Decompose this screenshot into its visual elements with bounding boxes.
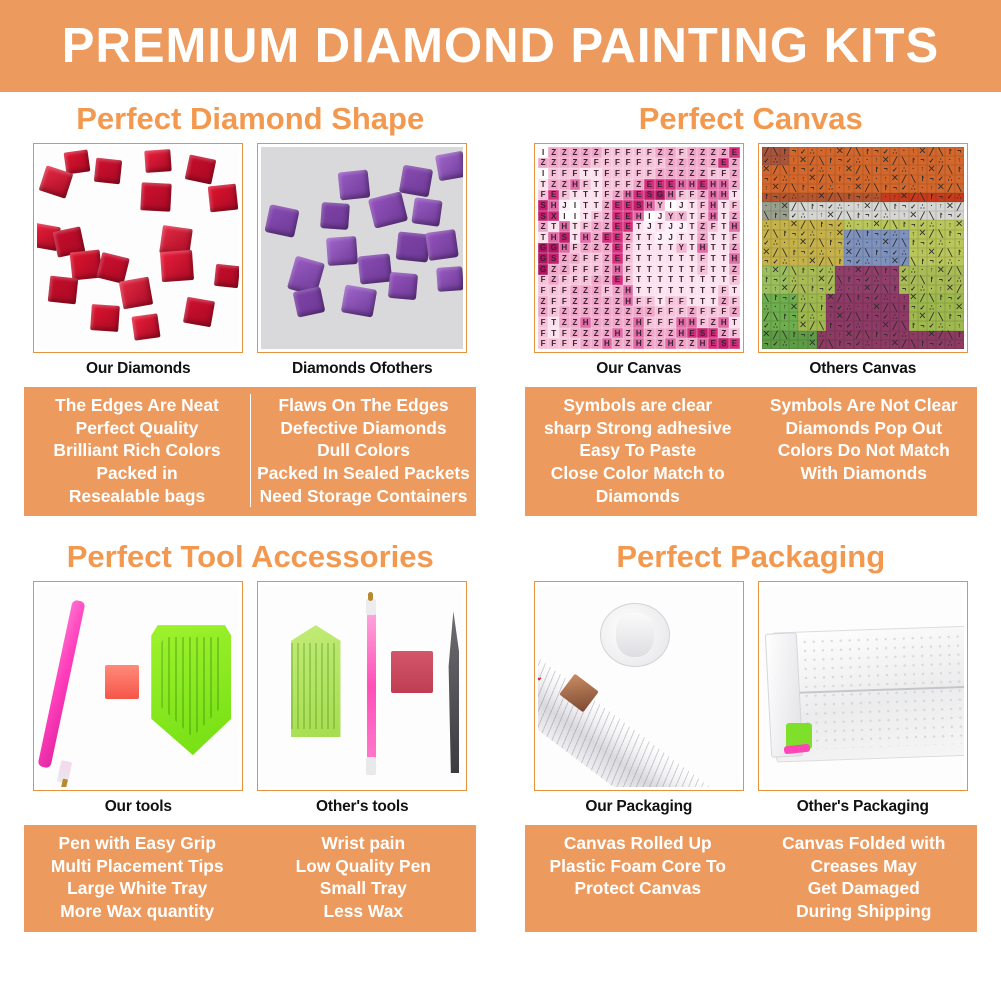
canvas-symbol-cell: H	[570, 179, 581, 190]
canvas-symbol-cell: ╱	[808, 321, 817, 330]
canvas-symbol-cell: ∴	[826, 184, 835, 193]
canvas-symbol-cell: ∴	[872, 193, 881, 202]
canvas-symbol-cell: Z	[687, 306, 698, 317]
canvas-symbol-cell: ·	[909, 248, 918, 257]
page-title: PREMIUM DIAMOND PAINTING KITS	[62, 18, 939, 74]
canvas-symbol-cell: ↾	[817, 220, 826, 229]
canvas-symbol-cell: X	[548, 211, 559, 222]
canvas-symbol-cell: ·	[808, 294, 817, 303]
canvas-symbol-cell: T	[655, 296, 666, 307]
canvas-symbol-cell: F	[623, 264, 634, 275]
canvas-symbol-cell: ↾	[955, 165, 964, 174]
canvas-symbol-cell: Z	[665, 328, 676, 339]
canvas-symbol-cell: ⨉	[918, 312, 927, 321]
canvas-symbol-cell: ¬	[955, 230, 964, 239]
canvas-symbol-cell: ∴	[945, 257, 954, 266]
canvas-symbol-cell: T	[676, 285, 687, 296]
other-packaging-photo	[758, 581, 968, 791]
canvas-symbol-cell: T	[718, 211, 729, 222]
canvas-symbol-cell: ╱	[808, 156, 817, 165]
canvas-symbol-cell: ↑	[955, 321, 964, 330]
canvas-symbol-cell: ↾	[936, 294, 945, 303]
canvas-symbol-cell: ¬	[909, 303, 918, 312]
canvas-symbol-cell: ↑	[835, 331, 844, 340]
canvas-symbol-cell: ∴	[835, 202, 844, 211]
canvas-symbol-cell: E	[687, 328, 698, 339]
canvas-symbol-cell: ·	[945, 156, 954, 165]
canvas-symbol-cell: I	[570, 211, 581, 222]
canvas-symbol-cell: ↑	[890, 276, 899, 285]
canvas-symbol-cell: ╱	[854, 248, 863, 257]
canvas-symbol-cell: ↑	[945, 220, 954, 229]
canvas-symbol-cell: ¬	[826, 303, 835, 312]
canvas-symbol-cell: Z	[602, 264, 613, 275]
canvas-symbol-cell: ∴	[854, 321, 863, 330]
canvas-symbol-cell: ╱	[771, 165, 780, 174]
canvas-symbol-cell: ✓	[844, 156, 853, 165]
canvas-symbol-cell: ·	[899, 147, 908, 156]
canvas-symbol-cell: F	[718, 306, 729, 317]
canvas-symbol-cell: ¬	[927, 257, 936, 266]
canvas-symbol-cell: ¬	[798, 165, 807, 174]
canvas-symbol-cell: Z	[644, 338, 655, 349]
canvas-symbol-cell: ╱	[798, 303, 807, 312]
canvas-symbol-cell: ╲	[927, 294, 936, 303]
canvas-symbol-cell: ✓	[918, 220, 927, 229]
canvas-symbol-cell: T	[687, 243, 698, 254]
canvas-symbol-cell: ·	[909, 165, 918, 174]
canvas-symbol-cell: ╱	[863, 184, 872, 193]
canvas-symbol-cell: ↑	[927, 266, 936, 275]
canvas-symbol-cell: Z	[676, 338, 687, 349]
canvas-symbol-cell: Z	[570, 328, 581, 339]
canvas-symbol-cell: ✓	[955, 211, 964, 220]
canvas-symbol-cell: T	[687, 211, 698, 222]
canvas-symbol-cell: ¬	[798, 331, 807, 340]
canvas-symbol-cell: ╲	[789, 184, 798, 193]
canvas-symbol-cell: F	[538, 190, 549, 201]
canvas-symbol-cell: T	[570, 190, 581, 201]
canvas-symbol-cell: T	[718, 243, 729, 254]
canvas-symbol-cell: ¬	[899, 202, 908, 211]
canvas-symbol-cell: ↑	[817, 294, 826, 303]
canvas-symbol-cell: ·	[817, 230, 826, 239]
canvas-symbol-cell: ↾	[780, 312, 789, 321]
canvas-symbol-cell: ∴	[762, 220, 771, 229]
canvas-symbol-cell: E	[633, 190, 644, 201]
canvas-symbol-cell: H	[708, 200, 719, 211]
canvas-symbol-cell: ⨉	[771, 184, 780, 193]
canvas-symbol-cell: ·	[771, 303, 780, 312]
canvas-symbol-cell: ¬	[789, 230, 798, 239]
diamond-drill	[214, 264, 239, 288]
canvas-symbol-cell: ↾	[909, 321, 918, 330]
canvas-symbol-cell: ✓	[890, 331, 899, 340]
canvas-symbol-cell: ·	[808, 211, 817, 220]
canvas-symbol-cell: Z	[559, 317, 570, 328]
canvas-symbol-cell: ↾	[835, 175, 844, 184]
canvas-symbol-cell: ↑	[789, 321, 798, 330]
canvas-symbol-cell: ¬	[826, 220, 835, 229]
canvas-symbol-cell: ↾	[909, 156, 918, 165]
canvas-symbol-cell: ✓	[872, 211, 881, 220]
canvas-symbol-cell: ╱	[835, 294, 844, 303]
feature-line: sharp Strong adhesive	[529, 417, 747, 440]
canvas-symbol-cell: H	[676, 179, 687, 190]
feature-line: Low Quality Pen	[254, 855, 472, 878]
canvas-symbol-cell: ·	[771, 220, 780, 229]
canvas-symbol-cell: G	[655, 190, 666, 201]
canvas-symbol-cell: ⨉	[872, 303, 881, 312]
diamond-drill	[185, 154, 217, 184]
canvas-symbol-cell: T	[591, 190, 602, 201]
canvas-symbol-cell: F	[548, 168, 559, 179]
canvas-symbol-cell: Z	[580, 243, 591, 254]
canvas-symbol-cell: ↑	[909, 230, 918, 239]
canvas-symbol-cell: ✓	[771, 257, 780, 266]
canvas-symbol-cell: Z	[687, 168, 698, 179]
canvas-symbol-cell: I	[644, 211, 655, 222]
canvas-symbol-cell: ✓	[854, 175, 863, 184]
feature-line: Brilliant Rich Colors	[28, 439, 246, 462]
canvas-symbol-cell: ╲	[890, 303, 899, 312]
canvas-symbol-cell: T	[708, 275, 719, 286]
canvas-symbol-cell: E	[623, 211, 634, 222]
canvas-symbol-cell: T	[708, 296, 719, 307]
canvas-symbol-cell: ↑	[881, 257, 890, 266]
canvas-symbol-cell: ✓	[780, 193, 789, 202]
canvas-symbol-cell: T	[580, 211, 591, 222]
canvas-symbol-cell: Z	[612, 190, 623, 201]
canvas-symbol-cell: Z	[570, 253, 581, 264]
canvas-symbol-cell: T	[570, 221, 581, 232]
canvas-symbol-cell: ╱	[899, 257, 908, 266]
canvas-symbol-cell: ↑	[798, 257, 807, 266]
canvas-symbol-cell: T	[687, 232, 698, 243]
canvas-symbol-cell: ✓	[854, 340, 863, 349]
canvas-symbol-cell: Z	[633, 179, 644, 190]
canvas-symbol-cell: ↑	[798, 175, 807, 184]
canvas-symbol-cell: T	[644, 253, 655, 264]
caption-our-tools: Our tools	[33, 798, 243, 816]
canvas-symbol-cell: ╲	[835, 276, 844, 285]
canvas-symbol-cell: ⨉	[826, 294, 835, 303]
canvas-symbol-cell: ↑	[936, 202, 945, 211]
canvas-symbol-cell: ╱	[854, 165, 863, 174]
canvas-symbol-cell: ∴	[955, 193, 964, 202]
canvas-symbol-cell: ↑	[936, 285, 945, 294]
canvas-symbol-cell: ╲	[909, 340, 918, 349]
canvas-symbol-cell: Z	[665, 158, 676, 169]
canvas-symbol-cell: ¬	[918, 321, 927, 330]
canvas-symbol-cell: F	[580, 275, 591, 286]
canvas-symbol-cell: ¬	[844, 175, 853, 184]
canvas-symbol-cell: ·	[863, 156, 872, 165]
canvas-symbol-cell: ↑	[808, 276, 817, 285]
canvas-symbol-cell: ·	[789, 340, 798, 349]
canvas-symbol-cell: ⨉	[899, 276, 908, 285]
canvas-symbol-cell: ↾	[863, 230, 872, 239]
canvas-symbol-cell: H	[548, 232, 559, 243]
canvas-symbol-cell: Z	[612, 306, 623, 317]
canvas-symbol-cell: F	[591, 158, 602, 169]
small-tray-ridges	[291, 643, 339, 729]
canvas-symbol-cell: H	[718, 179, 729, 190]
section-title-row-2: Perfect Tool Accessories Perfect Packagi…	[0, 530, 1001, 581]
caption-our-packaging: Our Packaging	[534, 798, 744, 816]
canvas-symbol-cell: ↑	[762, 266, 771, 275]
canvas-symbol-cell: ✓	[955, 294, 964, 303]
canvas-symbol-cell: F	[602, 190, 613, 201]
canvas-symbol-cell: H	[697, 338, 708, 349]
canvas-symbol-cell: ╲	[854, 230, 863, 239]
canvas-symbol-cell: T	[633, 243, 644, 254]
canvas-symbol-cell: Z	[580, 147, 591, 158]
canvas-symbol-cell: ∴	[780, 257, 789, 266]
canvas-symbol-cell: Z	[687, 338, 698, 349]
canvas-symbol-cell: S	[697, 328, 708, 339]
canvas-symbol-cell: ╱	[780, 184, 789, 193]
canvas-symbol-cell: T	[591, 179, 602, 190]
canvas-symbol-cell: ↾	[817, 303, 826, 312]
feature-col-theirs-tools: Wrist painLow Quality PenSmall TrayLess …	[250, 832, 476, 923]
canvas-symbol-cell: ·	[789, 175, 798, 184]
canvas-symbol-cell: ⨉	[854, 184, 863, 193]
canvas-symbol-cell: ↑	[918, 331, 927, 340]
canvas-symbol-cell: ↾	[762, 193, 771, 202]
canvas-symbol-cell: ↑	[835, 248, 844, 257]
canvas-symbol-cell: F	[729, 328, 740, 339]
canvas-symbol-cell: F	[655, 306, 666, 317]
canvas-symbol-cell: ✓	[844, 321, 853, 330]
canvas-symbol-cell: T	[718, 253, 729, 264]
canvas-symbol-cell: Z	[697, 190, 708, 201]
canvas-symbol-cell: ⨉	[762, 331, 771, 340]
canvas-symbol-cell: F	[633, 168, 644, 179]
canvas-symbol-cell: ∴	[936, 321, 945, 330]
canvas-symbol-cell: Z	[729, 264, 740, 275]
canvas-symbol-cell: ⨉	[863, 202, 872, 211]
canvas-symbol-cell: ↾	[936, 211, 945, 220]
canvas-symbol-cell: ↾	[918, 257, 927, 266]
canvas-symbol-cell: ↾	[835, 257, 844, 266]
canvas-symbol-cell: ╱	[918, 211, 927, 220]
feature-col-theirs-canvas: Symbols Are Not ClearDiamonds Pop OutCol…	[751, 394, 977, 507]
canvas-symbol-cell: ✓	[927, 239, 936, 248]
canvas-symbol-cell: E	[644, 179, 655, 190]
canvas-symbol-cell: ╱	[955, 202, 964, 211]
caption-our-canvas: Our Canvas	[534, 360, 744, 378]
feature-line: Plastic Foam Core To	[529, 855, 747, 878]
canvas-symbol-cell: F	[623, 243, 634, 254]
canvas-symbol-cell: ∴	[798, 294, 807, 303]
canvas-symbol-cell: G	[538, 253, 549, 264]
canvas-symbol-cell: T	[655, 253, 666, 264]
canvas-symbol-cell: ·	[780, 321, 789, 330]
canvas-symbol-cell: ╲	[762, 294, 771, 303]
canvas-symbol-cell: T	[676, 232, 687, 243]
canvas-symbol-cell: ╱	[826, 276, 835, 285]
canvas-symbol-cell: T	[697, 285, 708, 296]
canvas-symbol-cell: ⨉	[881, 321, 890, 330]
canvas-symbol-cell: F	[570, 243, 581, 254]
canvas-symbol-cell: Z	[602, 253, 613, 264]
canvas-symbol-cell: Z	[708, 158, 719, 169]
canvas-symbol-cell: ·	[798, 276, 807, 285]
canvas-symbol-cell: ⨉	[780, 285, 789, 294]
canvas-symbol-cell: ╲	[918, 276, 927, 285]
canvas-symbol-cell: ⨉	[789, 303, 798, 312]
canvas-symbol-cell: ↾	[844, 193, 853, 202]
canvas-symbol-cell: Z	[580, 328, 591, 339]
canvas-symbol-cell: Z	[644, 306, 655, 317]
canvas-symbol-cell: F	[559, 190, 570, 201]
canvas-symbol-cell: ↑	[909, 312, 918, 321]
canvas-symbol-cell: ¬	[817, 285, 826, 294]
canvas-symbol-cell: ✓	[762, 156, 771, 165]
canvas-symbol-cell: ↾	[771, 294, 780, 303]
canvas-symbol-cell: F	[538, 317, 549, 328]
canvas-symbol-cell: ⨉	[881, 239, 890, 248]
canvas-symbol-cell: H	[729, 221, 740, 232]
canvas-symbol-cell: ↾	[918, 175, 927, 184]
canvas-symbol-cell: ↾	[771, 211, 780, 220]
canvas-symbol-cell: ↑	[890, 193, 899, 202]
diamond-drill	[399, 165, 433, 198]
canvas-symbol-cell: ╱	[936, 248, 945, 257]
canvas-symbol-cell: ╱	[881, 220, 890, 229]
canvas-symbol-cell: F	[718, 285, 729, 296]
canvas-symbol-cell: ∴	[844, 220, 853, 229]
diamond-drill	[48, 276, 79, 305]
canvas-symbol-cell: ↾	[945, 312, 954, 321]
canvas-symbol-cell: ✓	[771, 175, 780, 184]
canvas-symbol-cell: Z	[559, 306, 570, 317]
canvas-symbol-cell: Z	[548, 147, 559, 158]
canvas-symbol-cell: ✓	[835, 220, 844, 229]
canvas-symbol-cell: F	[665, 306, 676, 317]
canvas-symbol-cell: J	[676, 200, 687, 211]
canvas-symbol-cell: T	[644, 232, 655, 243]
canvas-symbol-cell: ·	[955, 257, 964, 266]
canvas-symbol-cell: T	[697, 275, 708, 286]
canvas-symbol-cell: ¬	[844, 257, 853, 266]
canvas-symbol-cell: T	[729, 285, 740, 296]
canvas-symbol-cell: F	[708, 221, 719, 232]
canvas-symbol-cell: ↾	[955, 248, 964, 257]
canvas-symbol-cell: ·	[881, 193, 890, 202]
canvas-symbol-cell: ·	[918, 266, 927, 275]
canvas-symbol-cell: Z	[665, 168, 676, 179]
canvas-symbol-cell: Z	[729, 179, 740, 190]
canvas-symbol-cell: ⨉	[835, 230, 844, 239]
canvas-symbol-cell: Z	[591, 338, 602, 349]
feature-line: Packed In Sealed Packets	[255, 462, 473, 485]
wax-square-icon	[105, 665, 139, 699]
canvas-symbol-cell: ∴	[835, 285, 844, 294]
canvas-symbol-cell: ∴	[927, 220, 936, 229]
canvas-symbol-cell: ↾	[872, 331, 881, 340]
canvas-symbol-cell: ↾	[872, 165, 881, 174]
canvas-symbol-cell: T	[729, 190, 740, 201]
canvas-symbol-cell: F	[570, 264, 581, 275]
canvas-symbol-cell: ⨉	[854, 266, 863, 275]
canvas-symbol-cell: ╱	[835, 211, 844, 220]
canvas-symbol-cell: ╱	[762, 230, 771, 239]
canvas-symbol-cell: ·	[927, 202, 936, 211]
canvas-symbol-cell: F	[591, 253, 602, 264]
canvas-symbol-cell: ∴	[762, 303, 771, 312]
canvas-symbol-cell: Z	[559, 264, 570, 275]
canvas-symbol-cell: ∴	[808, 230, 817, 239]
canvas-symbol-cell: ╲	[826, 340, 835, 349]
canvas-symbol-cell: H	[708, 211, 719, 222]
wax-square-icon	[391, 651, 433, 693]
canvas-symbol-cell: ·	[918, 184, 927, 193]
canvas-symbol-cell: ∴	[808, 312, 817, 321]
feature-col-ours-tools: Pen with Easy GripMulti Placement TipsLa…	[24, 832, 250, 923]
canvas-symbol-cell: ╲	[762, 211, 771, 220]
canvas-symbol-cell: ↾	[881, 184, 890, 193]
canvas-symbol-cell: H	[633, 338, 644, 349]
canvas-symbol-cell: ✓	[844, 239, 853, 248]
canvas-symbol-cell: ╲	[780, 331, 789, 340]
canvas-symbol-cell: ¬	[909, 220, 918, 229]
canvas-symbol-cell: ∴	[918, 285, 927, 294]
canvas-symbol-cell: ⨉	[945, 202, 954, 211]
canvas-symbol-cell: T	[687, 285, 698, 296]
canvas-symbol-cell: Z	[602, 275, 613, 286]
feature-line: Flaws On The Edges	[255, 394, 473, 417]
canvas-symbol-cell: T	[655, 264, 666, 275]
canvas-symbol-cell: ⨉	[955, 303, 964, 312]
our-tools-photo	[33, 581, 243, 791]
canvas-symbol-cell: T	[644, 275, 655, 286]
canvas-symbol-cell: ╱	[844, 312, 853, 321]
canvas-symbol-cell: ·	[863, 239, 872, 248]
canvas-symbol-cell: H	[559, 243, 570, 254]
canvas-symbol-cell: T	[676, 253, 687, 264]
canvas-symbol-cell: F	[623, 168, 634, 179]
canvas-symbol-cell: ¬	[899, 285, 908, 294]
canvas-symbol-cell: F	[729, 200, 740, 211]
canvas-symbol-cell: E	[612, 211, 623, 222]
canvas-symbol-cell: H	[665, 338, 676, 349]
canvas-symbol-cell: H	[676, 317, 687, 328]
feature-line: Diamonds	[529, 485, 747, 508]
canvas-symbol-cell: ¬	[835, 321, 844, 330]
canvas-symbol-cell: ¬	[881, 331, 890, 340]
canvas-symbol-cell: ╲	[826, 257, 835, 266]
canvas-symbol-cell: ¬	[872, 147, 881, 156]
canvas-symbol-cell: Z	[655, 328, 666, 339]
canvas-symbol-cell: ¬	[808, 184, 817, 193]
canvas-symbol-cell: F	[633, 296, 644, 307]
canvas-symbol-cell: ∴	[899, 165, 908, 174]
feature-line: Dull Colors	[255, 439, 473, 462]
canvas-symbol-cell: ·	[890, 211, 899, 220]
canvas-symbol-cell: ·	[844, 202, 853, 211]
canvas-symbol-cell: Z	[697, 232, 708, 243]
canvas-symbol-cell: ↑	[762, 184, 771, 193]
section-title-row-1: Perfect Diamond Shape Perfect Canvas	[0, 92, 1001, 143]
canvas-symbol-cell: J	[676, 221, 687, 232]
canvas-symbol-cell: Z	[612, 317, 623, 328]
canvas-symbol-cell: F	[623, 253, 634, 264]
canvas-symbol-cell: T	[718, 232, 729, 243]
diamond-drill	[160, 250, 194, 282]
canvas-symbol-cell: ↾	[854, 294, 863, 303]
